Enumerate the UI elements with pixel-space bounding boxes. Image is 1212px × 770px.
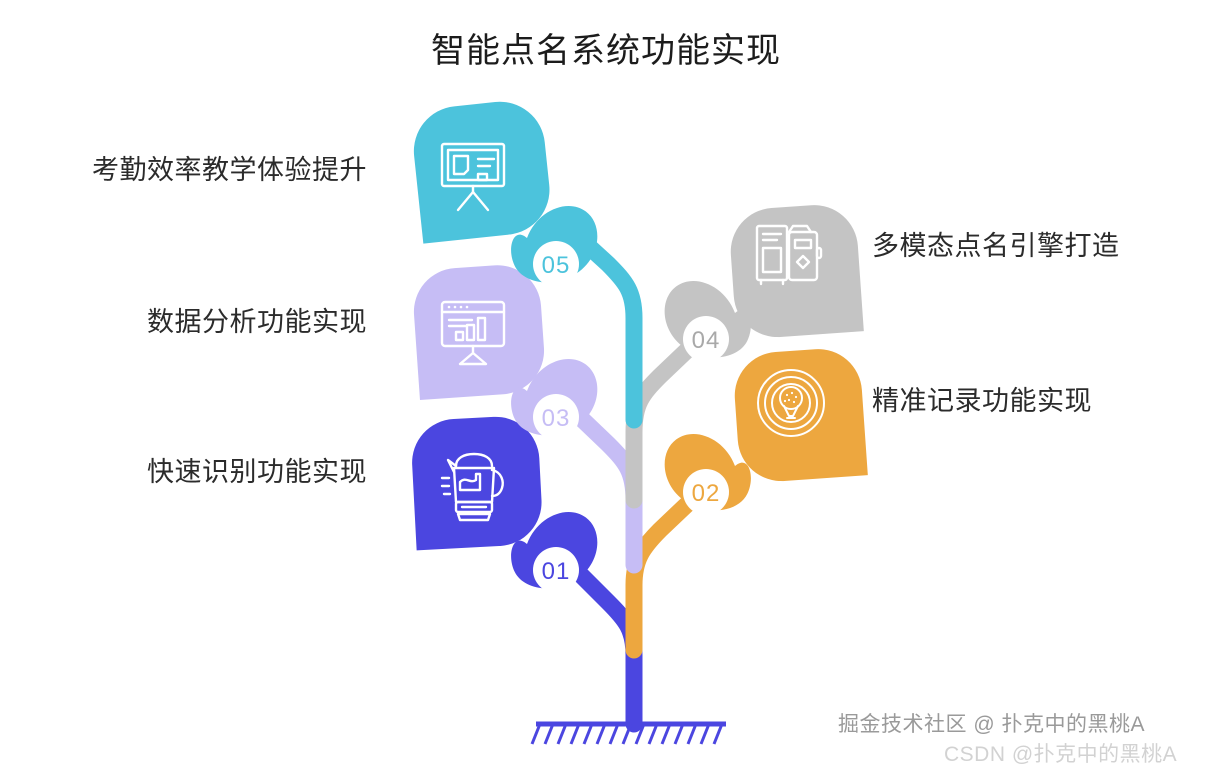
infographic-canvas: 智能点名系统功能实现 考勤效率教学体验提升 数据分析功能实现 快速识别功能实现 … [0, 0, 1212, 770]
watermark-secondary: CSDN @扑克中的黑桃A [944, 738, 1177, 768]
badge-number-01: 01 [542, 558, 571, 585]
badge-number-05: 05 [542, 252, 571, 279]
leaf-01[interactable] [410, 415, 544, 551]
leaf-02[interactable] [732, 346, 868, 484]
tree-diagram: 05 03 01 04 [0, 0, 1212, 770]
branch-02 [634, 492, 700, 650]
watermark-primary: 掘金技术社区 @ 扑克中的黑桃A [838, 708, 1145, 738]
badge-number-03: 03 [542, 405, 571, 432]
leaf-03[interactable] [411, 262, 547, 400]
badge-number-02: 02 [692, 480, 721, 507]
leaf-05[interactable] [409, 97, 554, 243]
ground-line [532, 724, 726, 744]
badge-number-04: 04 [692, 327, 721, 354]
